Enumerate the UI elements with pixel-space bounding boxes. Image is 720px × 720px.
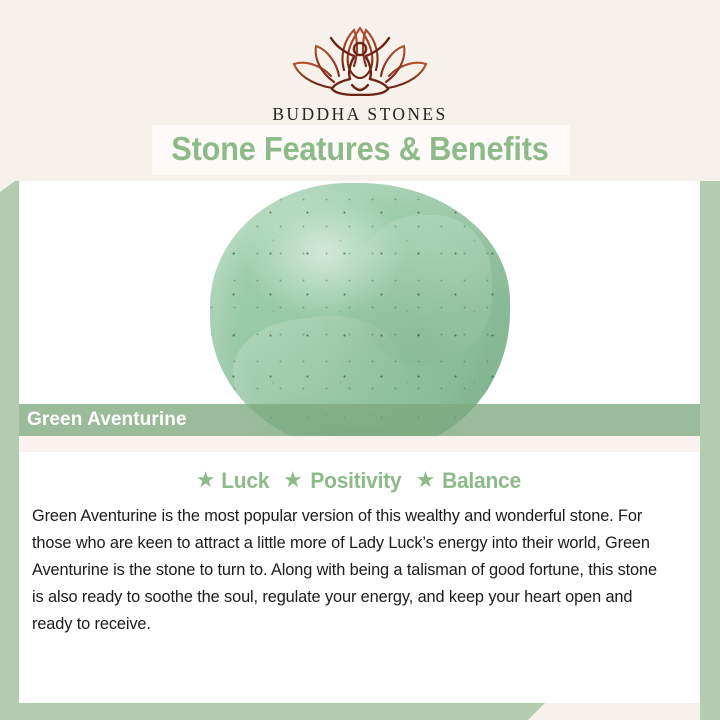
product-image — [19, 181, 700, 436]
star-icon: ★ — [196, 469, 216, 491]
lotus-meditation-icon — [284, 26, 436, 96]
description-paragraph: Green Aventurine is the most popular ver… — [32, 503, 662, 637]
benefit-label: Positivity — [310, 468, 401, 494]
benefit-item: ★ Luck — [196, 468, 271, 494]
star-icon: ★ — [283, 469, 303, 491]
stone-features-poster: BUDDHA STONES Stone Features & Benefits … — [0, 0, 720, 720]
header-corner-surface — [0, 0, 195, 20]
stone-speckles — [210, 183, 510, 436]
star-icon: ★ — [416, 469, 436, 491]
benefit-item: ★ Balance — [416, 468, 524, 494]
divider-strip — [19, 436, 700, 452]
benefits-row: ★ Luck ★ Positivity ★ Balance — [19, 452, 700, 494]
product-label: Green Aventurine — [19, 409, 187, 431]
frame-bottom-band — [0, 703, 545, 720]
frame-left-band — [0, 178, 19, 720]
green-aventurine-stone — [210, 183, 510, 436]
content-area: ★ Luck ★ Positivity ★ Balance Green Aven… — [19, 452, 700, 703]
stone-photo-wrap — [19, 181, 700, 436]
brand-wordmark: BUDDHA STONES — [0, 104, 720, 125]
product-label-band: Green Aventurine — [19, 404, 700, 436]
benefit-item: ★ Positivity — [283, 468, 404, 494]
poster-header: BUDDHA STONES Stone Features & Benefits — [0, 0, 720, 181]
page-title: Stone Features & Benefits — [25, 124, 695, 174]
brand-logo-block: BUDDHA STONES — [0, 26, 720, 125]
benefit-label: Balance — [442, 468, 521, 494]
benefit-label: Luck — [222, 468, 270, 494]
